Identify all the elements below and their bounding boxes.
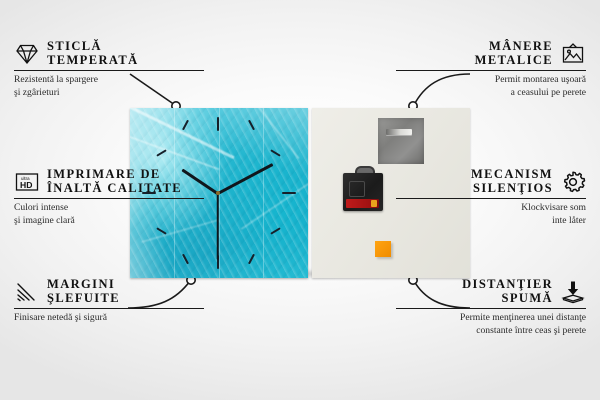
feature-title-line1: MARGINI bbox=[47, 278, 115, 292]
clock-mechanism bbox=[343, 171, 383, 211]
svg-text:HD: HD bbox=[20, 180, 32, 190]
polished-edges-icon bbox=[14, 279, 40, 305]
feature-metal-hangers: MÂNERE METALICE Permit montarea uşoară a… bbox=[396, 40, 586, 99]
feature-subtitle: Finisare netedă şi sigură bbox=[14, 312, 204, 324]
foam-spacer bbox=[375, 241, 391, 257]
feature-title-line1: STICLĂ bbox=[47, 40, 102, 54]
gear-icon bbox=[560, 169, 586, 195]
feature-rule bbox=[396, 70, 586, 71]
diamond-icon bbox=[14, 41, 40, 67]
foam-spacer-arrow-icon bbox=[560, 279, 586, 305]
feature-subtitle: Permite menţinerea unei distanţe constan… bbox=[396, 312, 586, 337]
feature-subtitle: Permit montarea uşoară a ceasului pe per… bbox=[396, 74, 586, 99]
feature-rule bbox=[396, 308, 586, 309]
ultra-hd-icon: ultra HD bbox=[14, 169, 40, 195]
clock-hub bbox=[216, 191, 220, 195]
clock-minute-hand bbox=[217, 163, 273, 195]
feature-title-line1: MÂNERE bbox=[489, 40, 553, 54]
feature-subtitle: Rezistentă la spargere şi zgârieturi bbox=[14, 74, 204, 99]
feature-polished-edges: MARGINI ŞLEFUITE Finisare netedă şi sigu… bbox=[14, 278, 204, 325]
feature-title-line2: ŞLEFUITE bbox=[47, 292, 120, 306]
feature-foam-spacer: DISTANŢIER SPUMĂ Permite menţinerea unei… bbox=[396, 278, 586, 337]
clock-second-hand bbox=[217, 194, 219, 260]
feature-rule bbox=[14, 308, 204, 309]
feature-rule bbox=[396, 198, 586, 199]
feature-rule bbox=[14, 70, 204, 71]
feature-title-line1: DISTANŢIER bbox=[462, 278, 553, 292]
picture-hanger-icon bbox=[560, 41, 586, 67]
feature-tempered-glass: STICLĂ TEMPERATĂ Rezistentă la spargere … bbox=[14, 40, 204, 99]
feature-subtitle: Culori intense şi imagine clară bbox=[14, 202, 204, 227]
feature-hd-print: ultra HD IMPRIMARE DE ÎNALTĂ CALITATE Cu… bbox=[14, 168, 204, 227]
feature-rule bbox=[14, 198, 204, 199]
metal-hanger-plate bbox=[378, 118, 424, 164]
infographic-canvas: STICLĂ TEMPERATĂ Rezistentă la spargere … bbox=[0, 0, 600, 400]
feature-subtitle: Klockvisare som inte låter bbox=[396, 202, 586, 227]
feature-title-line2: METALICE bbox=[475, 54, 553, 68]
feature-title-line2: ÎNALTĂ CALITATE bbox=[47, 182, 182, 196]
feature-title-line2: SPUMĂ bbox=[502, 292, 553, 306]
feature-title-line2: SILENŢIOS bbox=[473, 182, 553, 196]
feature-title-line1: MECANISM bbox=[471, 168, 553, 182]
feature-title-line2: TEMPERATĂ bbox=[47, 54, 139, 68]
feature-silent-mechanism: MECANISM SILENŢIOS Klockvisare som inte … bbox=[396, 168, 586, 227]
feature-title-line1: IMPRIMARE DE bbox=[47, 168, 161, 182]
